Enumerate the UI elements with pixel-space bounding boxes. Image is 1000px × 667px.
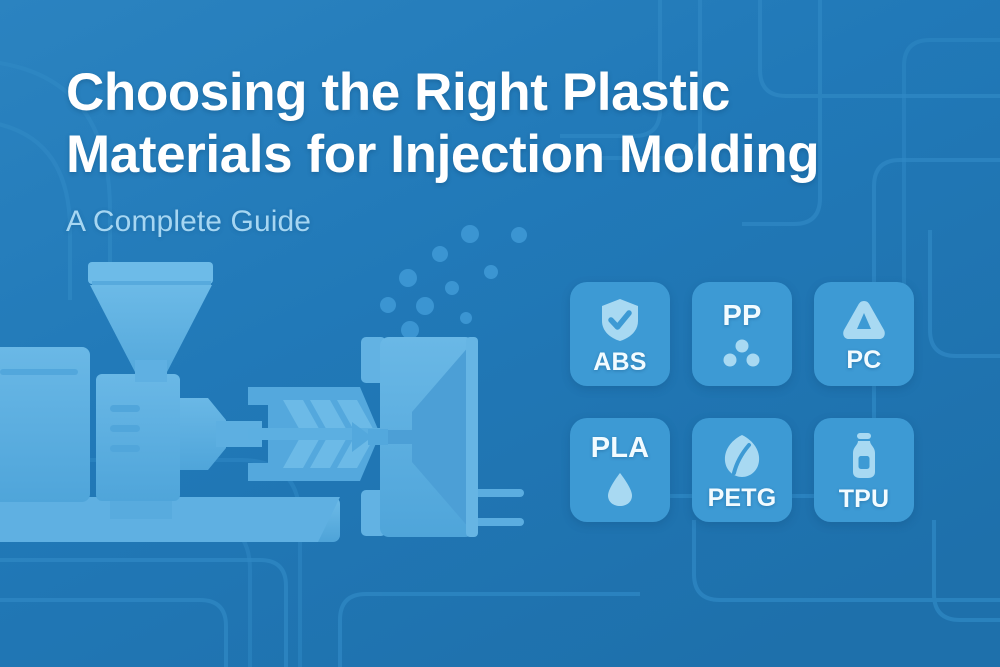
- hopper: [88, 262, 213, 382]
- plastic-pellets: [380, 225, 527, 339]
- molecule-dots-icon: [721, 339, 763, 367]
- page-title-line-1: Choosing the Right Plastic: [66, 62, 856, 124]
- material-label-tpu: TPU: [839, 486, 890, 513]
- triangle-icon: [841, 298, 887, 341]
- mold-clamp-unit: [352, 337, 524, 537]
- bottle-icon: [847, 432, 881, 480]
- material-label-pp: PP: [722, 301, 761, 331]
- barrel: [96, 374, 180, 519]
- shield-check-icon: [599, 297, 641, 343]
- leaf-icon: [721, 433, 763, 479]
- page-title-line-2: Materials for Injection Molding: [66, 124, 856, 186]
- material-card-pp[interactable]: PP: [692, 282, 792, 386]
- material-card-tpu[interactable]: TPU: [814, 418, 914, 522]
- material-card-grid: ABS PP PC PLA: [570, 282, 914, 522]
- droplet-icon: [605, 471, 635, 507]
- material-card-abs[interactable]: ABS: [570, 282, 670, 386]
- material-card-pc[interactable]: PC: [814, 282, 914, 386]
- control-cabinet: [0, 347, 90, 502]
- material-label-petg: PETG: [708, 485, 777, 512]
- material-card-pla[interactable]: PLA: [570, 418, 670, 522]
- hero-banner: Choosing the Right Plastic Materials for…: [0, 0, 1000, 667]
- headline-block: Choosing the Right Plastic Materials for…: [66, 62, 856, 242]
- material-label-abs: ABS: [593, 349, 646, 376]
- material-label-pc: PC: [846, 347, 881, 374]
- page-subtitle: A Complete Guide: [66, 202, 856, 242]
- material-card-petg[interactable]: PETG: [692, 418, 792, 522]
- material-label-pla: PLA: [591, 433, 650, 463]
